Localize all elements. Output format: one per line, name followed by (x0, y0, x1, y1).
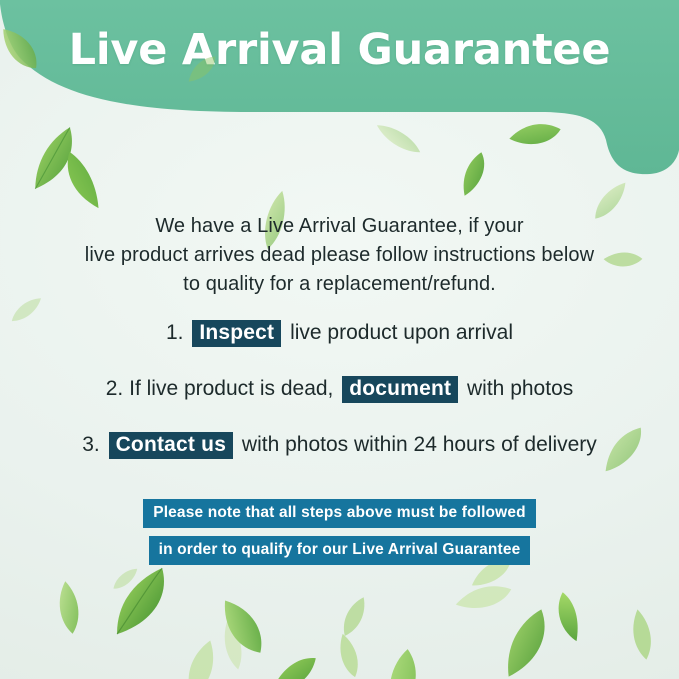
live-arrival-guarantee-poster: Live Arrival Guarantee (0, 0, 679, 679)
step-1: 1. Inspect live product upon arrival (0, 320, 679, 347)
step-2-before: If live product is dead, (129, 377, 333, 400)
step-3-after: with photos within 24 hours of delivery (242, 433, 597, 456)
intro-line-3: to quality for a replacement/refund. (50, 270, 629, 299)
step-3-number: 3. (82, 433, 100, 456)
intro-line-2: live product arrives dead please follow … (50, 241, 629, 270)
step-2-number: 2. (106, 377, 124, 400)
step-1-highlight[interactable]: Inspect (192, 320, 281, 347)
note-bar-line-1: Please note that all steps above must be… (143, 499, 536, 528)
step-3: 3. Contact us with photos within 24 hour… (0, 432, 679, 459)
step-2-after: with photos (467, 377, 573, 400)
note-block: Please note that all steps above must be… (0, 499, 679, 573)
step-1-number: 1. (166, 321, 184, 344)
page-title: Live Arrival Guarantee (0, 28, 679, 73)
intro-line-1: We have a Live Arrival Guarantee, if you… (50, 212, 629, 241)
step-1-after: live product upon arrival (290, 321, 513, 344)
step-2-highlight[interactable]: document (342, 376, 458, 403)
step-3-highlight[interactable]: Contact us (109, 432, 234, 459)
intro-paragraph: We have a Live Arrival Guarantee, if you… (50, 212, 629, 299)
steps-list: 1. Inspect live product upon arrival 2. … (0, 320, 679, 488)
step-2: 2. If live product is dead, document wit… (0, 376, 679, 403)
note-bar-line-2: in order to qualify for our Live Arrival… (149, 536, 531, 565)
